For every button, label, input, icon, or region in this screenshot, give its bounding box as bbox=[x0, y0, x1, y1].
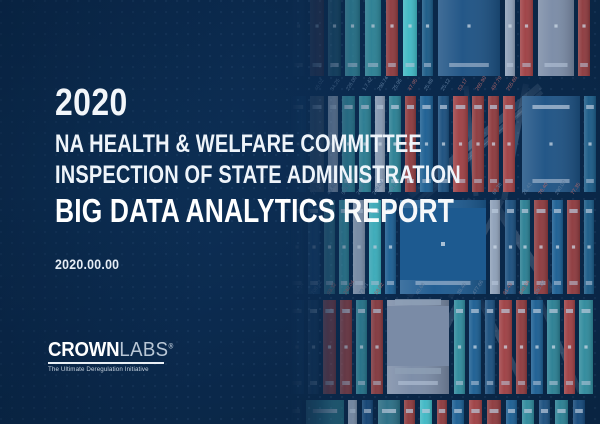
data-bar-label: 25.12 bbox=[440, 78, 452, 92]
logo-name-bold: CROWN bbox=[48, 339, 119, 361]
data-bar-center-dot bbox=[351, 24, 354, 27]
data-bar-center-dot bbox=[523, 245, 526, 248]
data-bar-top-tick bbox=[382, 409, 396, 413]
highlight-square bbox=[387, 306, 449, 366]
crownlabs-logo: CROWNLABS® The Ultimate Deregulation Ini… bbox=[48, 340, 228, 373]
data-bar-top-tick bbox=[524, 409, 532, 413]
data-bar-top-tick bbox=[293, 105, 303, 109]
data-bar-bottom-tick bbox=[549, 381, 557, 385]
data-bar-bottom-tick bbox=[406, 63, 415, 67]
data-bar-bottom-tick bbox=[310, 381, 317, 385]
data-bar-top-tick bbox=[350, 409, 356, 413]
logo-wordmark: CROWNLABS® bbox=[48, 340, 215, 360]
data-bar-top-tick bbox=[557, 409, 565, 413]
data-bar-center-dot bbox=[425, 142, 428, 145]
data-bar-center-dot bbox=[554, 24, 557, 27]
data-bar-label: 265.90 bbox=[475, 75, 489, 92]
logo-name-light: LABS bbox=[119, 339, 168, 361]
data-bar-top-tick bbox=[440, 105, 447, 109]
data-bar-label: 1.7.42 bbox=[362, 77, 375, 93]
data-bar-bottom-tick bbox=[341, 281, 347, 285]
data-bar-center-dot bbox=[584, 345, 587, 348]
data-bar-top-tick bbox=[439, 409, 445, 413]
data-bar-label: 47.95 bbox=[407, 78, 419, 92]
data-bar-label: 46.02 bbox=[314, 78, 326, 92]
report-cover: 51.201.7.7078.04263.161.7.688.7.57166.48… bbox=[0, 0, 600, 424]
data-bar-bottom-tick bbox=[325, 381, 333, 385]
data-bar-center-dot bbox=[295, 245, 298, 248]
data-bar-center-dot bbox=[344, 345, 347, 348]
cover-main-title-heavy: BIG DATA ANALYTICS bbox=[55, 192, 336, 229]
data-bar-bottom-tick bbox=[586, 281, 592, 285]
cover-date: 2020.00.00 bbox=[55, 256, 119, 272]
logo-tagline: The Ultimate Deregulation Initiative bbox=[48, 366, 223, 373]
data-bar-bottom-tick bbox=[348, 63, 358, 67]
data-bar-center-dot bbox=[342, 245, 345, 248]
data-bar-top-tick bbox=[377, 105, 383, 109]
data-bar-center-dot bbox=[587, 245, 590, 248]
data-bar-center-dot bbox=[375, 345, 378, 348]
data-bar-label: 487.79 bbox=[490, 75, 504, 92]
data-bar-center-dot bbox=[535, 345, 538, 348]
data-bar-top-tick bbox=[537, 209, 546, 213]
bar-band-0: 51.201.7.7078.04263.161.7.688.7.57166.48… bbox=[292, 0, 594, 76]
data-bar-bottom-tick bbox=[566, 381, 573, 385]
data-bar-bottom-tick bbox=[294, 63, 302, 67]
data-bar-bottom-tick bbox=[490, 179, 497, 183]
data-bar-center-dot bbox=[476, 142, 479, 145]
data-bar-top-tick bbox=[310, 309, 317, 313]
data-bar-center-dot bbox=[333, 24, 336, 27]
data-bar-top-tick bbox=[342, 309, 350, 313]
data-bar-bottom-tick bbox=[501, 381, 509, 385]
data-bar-top-tick bbox=[422, 105, 430, 109]
data-bar-top-tick bbox=[293, 309, 302, 313]
data-bar-top-tick bbox=[456, 309, 463, 313]
data-bar-center-dot bbox=[539, 245, 542, 248]
data-bar-top-tick bbox=[575, 409, 583, 413]
data-bar-center-dot bbox=[328, 345, 331, 348]
data-bar-center-dot bbox=[507, 142, 510, 145]
data-bar-center-dot bbox=[312, 345, 315, 348]
data-bar-bottom-tick bbox=[293, 381, 302, 385]
data-bar-center-dot bbox=[295, 345, 298, 348]
data-bar-bottom-tick bbox=[449, 63, 489, 67]
data-bar-center-dot bbox=[492, 142, 495, 145]
data-bar-label: 25.95 bbox=[392, 78, 404, 92]
data-bar-label: 34.25 bbox=[330, 78, 342, 92]
data-bar-center-dot bbox=[312, 245, 315, 248]
data-bar-bottom-tick bbox=[342, 381, 350, 385]
data-bar-center-dot bbox=[549, 142, 552, 145]
data-bar-center-dot bbox=[467, 24, 470, 27]
data-bar-center-dot bbox=[357, 245, 360, 248]
data-bar-bottom-tick bbox=[371, 281, 379, 285]
data-bar-top-tick bbox=[471, 409, 479, 413]
cover-main-title-light: REPORT bbox=[336, 192, 454, 229]
data-bar-bottom-tick bbox=[398, 381, 438, 385]
data-bar-top-tick bbox=[344, 105, 352, 109]
data-bar-center-dot bbox=[315, 24, 318, 27]
data-bar-bottom-tick bbox=[544, 63, 567, 67]
data-bar-bottom-tick bbox=[569, 281, 577, 285]
data-bar-bottom-tick bbox=[313, 63, 322, 67]
data-bar-bottom-tick bbox=[487, 381, 493, 385]
data-bar-center-dot bbox=[493, 245, 496, 248]
data-bar-center-dot bbox=[525, 24, 528, 27]
cover-main-title: BIG DATA ANALYTICS REPORT bbox=[55, 194, 454, 227]
data-bar-bottom-tick bbox=[582, 381, 591, 385]
data-bar-top-tick bbox=[407, 105, 414, 109]
data-bar-top-tick bbox=[456, 105, 466, 109]
data-bar-top-tick bbox=[487, 309, 493, 313]
data-bar-top-tick bbox=[292, 409, 300, 413]
data-bar-top-tick bbox=[582, 309, 591, 313]
data-bar-center-dot bbox=[504, 345, 507, 348]
highlight-panel-dot bbox=[441, 242, 445, 246]
logo-divider-rule bbox=[48, 362, 164, 364]
data-bar-bottom-tick bbox=[358, 381, 365, 385]
data-bar-top-tick bbox=[330, 105, 336, 109]
data-bar-bottom-tick bbox=[373, 381, 381, 385]
data-bar-center-dot bbox=[408, 24, 411, 27]
data-bar-top-tick bbox=[586, 209, 592, 213]
data-bar-top-tick bbox=[391, 105, 399, 109]
data-bar-bottom-tick bbox=[471, 381, 479, 385]
data-bar-center-dot bbox=[488, 345, 491, 348]
data-bar-top-tick bbox=[569, 209, 577, 213]
data-bar-center-dot bbox=[556, 245, 559, 248]
data-bar-bottom-tick bbox=[533, 381, 541, 385]
data-bar-top-tick bbox=[490, 409, 499, 413]
data-bar-center-dot bbox=[552, 345, 555, 348]
highlight-square-bottom-cap bbox=[395, 368, 441, 374]
data-bar-top-tick bbox=[501, 309, 509, 313]
data-bar-center-dot bbox=[572, 245, 575, 248]
data-bar-bottom-tick bbox=[505, 179, 513, 183]
data-bar-top-tick bbox=[474, 105, 482, 109]
data-bar-bottom-tick bbox=[492, 281, 498, 285]
data-bar-center-dot bbox=[520, 345, 523, 348]
data-bar-center-dot bbox=[371, 24, 374, 27]
data-bar-center-dot bbox=[582, 24, 585, 27]
data-bar-center-dot bbox=[390, 24, 393, 27]
data-bar-top-tick bbox=[505, 105, 513, 109]
data-bar-top-tick bbox=[549, 309, 557, 313]
data-bar-top-tick bbox=[541, 409, 548, 413]
data-bar-top-tick bbox=[454, 409, 462, 413]
data-bar-bottom-tick bbox=[586, 179, 594, 183]
data-bar-bottom-tick bbox=[387, 281, 394, 285]
data-bar-top-tick bbox=[361, 105, 369, 109]
data-bar-center-dot bbox=[459, 142, 462, 145]
data-bar-center-dot bbox=[458, 345, 461, 348]
data-bar-bottom-tick bbox=[355, 281, 363, 285]
data-bar-top-tick bbox=[325, 309, 333, 313]
data-bar-bottom-tick bbox=[424, 63, 431, 67]
data-bar-bottom-tick bbox=[518, 381, 525, 385]
data-bar-label: 255.68 bbox=[506, 75, 520, 92]
data-bar-center-dot bbox=[426, 24, 429, 27]
data-bar-top-tick bbox=[422, 409, 430, 413]
data-bar-bottom-tick bbox=[330, 63, 338, 67]
data-bar-top-tick bbox=[586, 105, 594, 109]
data-bar-center-dot bbox=[442, 142, 445, 145]
data-bar-center-dot bbox=[373, 245, 376, 248]
data-bar-top-tick bbox=[532, 105, 569, 109]
data-bar-top-tick bbox=[358, 309, 365, 313]
data-bar-top-tick bbox=[313, 409, 337, 413]
data-bar-top-tick bbox=[406, 409, 413, 413]
data-bar-center-dot bbox=[568, 345, 571, 348]
data-bar-label: 226.00 bbox=[345, 75, 359, 92]
data-bar-top-tick bbox=[313, 105, 322, 109]
data-bar-top-tick bbox=[522, 209, 528, 213]
cover-subtitle-line-2: INSPECTION OF STATE ADMINISTRATION bbox=[55, 163, 461, 188]
data-bar-label: 25.88 bbox=[423, 78, 435, 92]
data-bar-label: 298.74 bbox=[377, 75, 391, 92]
data-bar-bottom-tick bbox=[554, 281, 561, 285]
data-bar-bottom-tick bbox=[507, 63, 513, 67]
data-bar-top-tick bbox=[507, 209, 514, 213]
data-bar-top-tick bbox=[364, 409, 371, 413]
data-bar-top-tick bbox=[492, 209, 498, 213]
logo-trademark-icon: ® bbox=[168, 343, 173, 350]
data-bar-center-dot bbox=[328, 245, 331, 248]
data-bar-top-tick bbox=[373, 309, 381, 313]
data-bar-bottom-tick bbox=[522, 63, 530, 67]
data-bar-bottom-tick bbox=[456, 381, 463, 385]
highlight-square-top-cap bbox=[395, 299, 441, 305]
data-bar-bottom-tick bbox=[580, 63, 588, 67]
data-bar-top-tick bbox=[554, 209, 561, 213]
data-bar-top-tick bbox=[566, 309, 573, 313]
data-bar-center-dot bbox=[508, 24, 511, 27]
data-bar-center-dot bbox=[360, 345, 363, 348]
data-bar-top-tick bbox=[518, 309, 525, 313]
data-bar-bottom-tick bbox=[388, 63, 396, 67]
data-bar-bottom-tick bbox=[368, 63, 378, 67]
data-bar-center-dot bbox=[297, 24, 300, 27]
data-bar-bottom-tick bbox=[474, 179, 482, 183]
cover-subtitle-line-1: NA HEALTH & WELFARE COMMITTEE bbox=[55, 132, 422, 157]
data-bar-top-tick bbox=[471, 309, 479, 313]
cover-year: 2020 bbox=[55, 84, 128, 122]
bar-band-4 bbox=[290, 400, 585, 424]
data-bar-center-dot bbox=[389, 245, 392, 248]
data-bar-top-tick bbox=[508, 409, 515, 413]
data-bar-center-dot bbox=[473, 345, 476, 348]
data-bar-top-tick bbox=[490, 105, 497, 109]
data-bar-center-dot bbox=[588, 142, 591, 145]
data-bar-top-tick bbox=[533, 309, 541, 313]
data-bar-center-dot bbox=[509, 245, 512, 248]
